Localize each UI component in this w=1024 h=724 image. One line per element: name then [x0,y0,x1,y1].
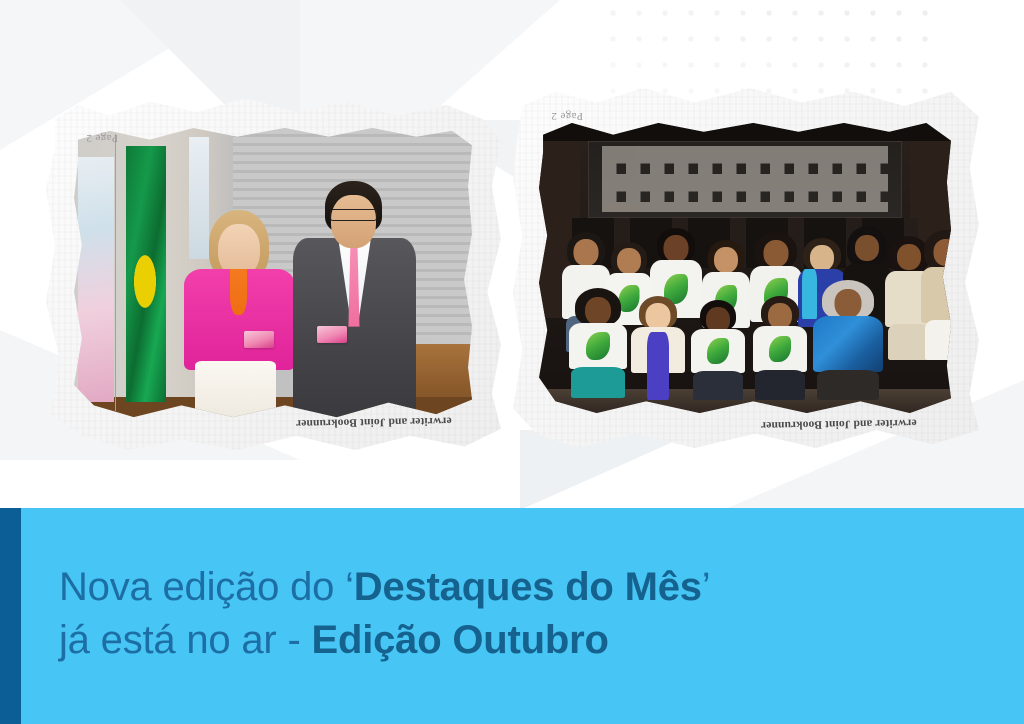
banner-accent-bar [0,508,21,724]
person-face [835,289,862,318]
photo-card-left: Page 2 erwriter and Joint Bookrunner [46,98,501,450]
headline-banner: Nova edição do ‘Destaques do Mês’ já est… [0,508,1024,724]
headline-line-1: Nova edição do ‘Destaques do Mês’ [59,561,959,614]
person-shirt [813,316,883,372]
person-face [585,297,611,325]
headline-line-1-prefix: Nova edição do ‘ [59,565,354,609]
man-gray-suit [293,181,416,420]
photo-right-scene [539,120,951,416]
woman-pink-blouse [181,210,296,420]
person-legs [571,367,625,398]
woman-collar [230,269,247,315]
man-face [331,195,375,248]
page-marker-left: Page 2 [86,132,118,144]
person-face [617,248,641,274]
photo-left-scene [74,128,472,420]
portrait-wall [588,141,901,218]
group-person-10 [567,288,629,398]
group-person-12 [689,300,747,400]
person-face [855,235,879,261]
photo-left-image [74,128,472,420]
person-face [646,303,671,330]
person-face [764,240,789,267]
headline-line-1-bold: Destaques do Mês [354,565,702,609]
person-legs [693,371,743,400]
photo-card-right: Page 2 erwriter and Joint Bookrunner [513,88,979,448]
headline-line-2: já está no ar - Edição Outubro [59,614,959,667]
pink-ribbon-left [244,331,274,348]
flag-pole [115,134,116,411]
person-legs [755,370,805,400]
headline-line-1-suffix: ’ [702,565,711,609]
headline-line-2-prefix: já está no ar - [59,618,311,662]
group-person-14 [811,280,885,400]
headline-line-2-bold: Edição Outubro [311,618,608,662]
photo-right-image [539,120,951,416]
man-glasses [330,209,377,221]
group-person-13 [751,296,809,400]
person-legs [925,320,951,360]
person-dress [647,332,669,400]
page-marker-right: Page 2 [551,110,583,122]
person-face [897,244,921,270]
brazil-flag [126,146,166,403]
group-person-11 [629,296,687,400]
person-face [714,247,738,273]
person-face [664,235,689,262]
institutional-flag [78,157,114,402]
portrait-grid [602,146,888,212]
person-legs [817,370,879,400]
person-face [574,239,599,266]
person-face [810,245,834,271]
pink-ribbon-right [317,326,347,343]
banner-headline: Nova edição do ‘Destaques do Mês’ já est… [59,561,959,667]
